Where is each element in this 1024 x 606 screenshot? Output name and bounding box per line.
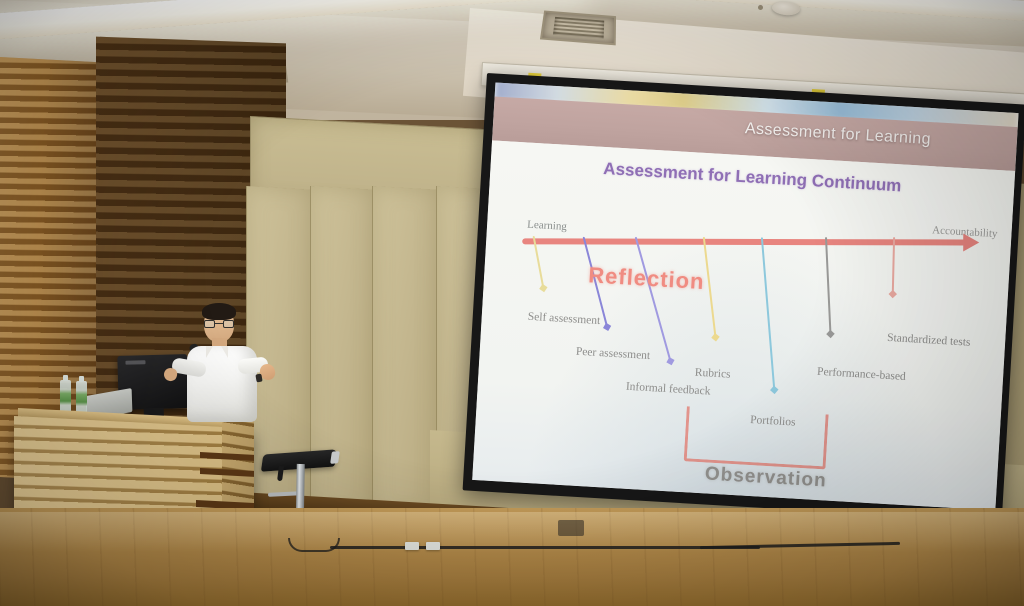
wall-panel bbox=[372, 186, 438, 520]
floor-cable-loop bbox=[288, 538, 340, 552]
continuum-arrow bbox=[522, 238, 966, 245]
slide-header-title: Assessment for Learning bbox=[744, 120, 931, 149]
wall-panel bbox=[310, 186, 374, 520]
ceiling-fixture-screw bbox=[758, 5, 763, 10]
wristwatch bbox=[255, 374, 262, 383]
shirt-collar-left bbox=[206, 346, 213, 358]
slide-canvas: Assessment for Learning Assessment for L… bbox=[472, 83, 1018, 511]
monitor-logo bbox=[125, 360, 145, 365]
node-label: Peer assessment bbox=[576, 346, 651, 362]
node-label: Standardized tests bbox=[887, 332, 971, 349]
connector-line bbox=[635, 236, 671, 360]
glasses-lens-right bbox=[223, 320, 234, 328]
glasses-lens-left bbox=[204, 320, 215, 328]
projection-screen: Assessment for Learning Assessment for L… bbox=[463, 73, 1024, 522]
slide-body: Assessment for Learning Continuum Learni… bbox=[472, 140, 1015, 510]
water-bottle bbox=[76, 381, 87, 415]
wooden-stage-floor bbox=[0, 508, 1024, 606]
cable-tape bbox=[405, 542, 419, 550]
vent-slats bbox=[553, 17, 605, 39]
node-label: Performance-based bbox=[817, 366, 906, 383]
node-label: Informal feedback bbox=[626, 381, 711, 398]
axis-label-learning: Learning bbox=[527, 219, 567, 233]
node-label: Self assessment bbox=[527, 311, 600, 327]
connector-line bbox=[825, 237, 831, 333]
connector-line bbox=[703, 237, 717, 337]
slide-title: Assessment for Learning Continuum bbox=[603, 159, 902, 196]
observation-bracket bbox=[684, 406, 829, 469]
connector-line bbox=[892, 237, 895, 293]
presenter bbox=[176, 306, 296, 456]
connector-line bbox=[761, 237, 775, 389]
glasses-bridge bbox=[215, 323, 223, 324]
shirt-collar-right bbox=[221, 346, 228, 358]
node-label: Rubrics bbox=[694, 367, 730, 381]
eyeglasses-icon bbox=[204, 320, 234, 328]
lecture-hall-photo: Assessment for Learning Assessment for L… bbox=[0, 0, 1024, 606]
presenter-hair bbox=[202, 303, 236, 320]
zone-label-reflection: Reflection bbox=[588, 262, 706, 295]
floor-speaker-box bbox=[558, 520, 584, 536]
ceiling-air-vent-right bbox=[540, 11, 616, 46]
cable-tape bbox=[426, 542, 440, 550]
floor-cable bbox=[330, 546, 760, 549]
water-bottle bbox=[60, 380, 71, 414]
